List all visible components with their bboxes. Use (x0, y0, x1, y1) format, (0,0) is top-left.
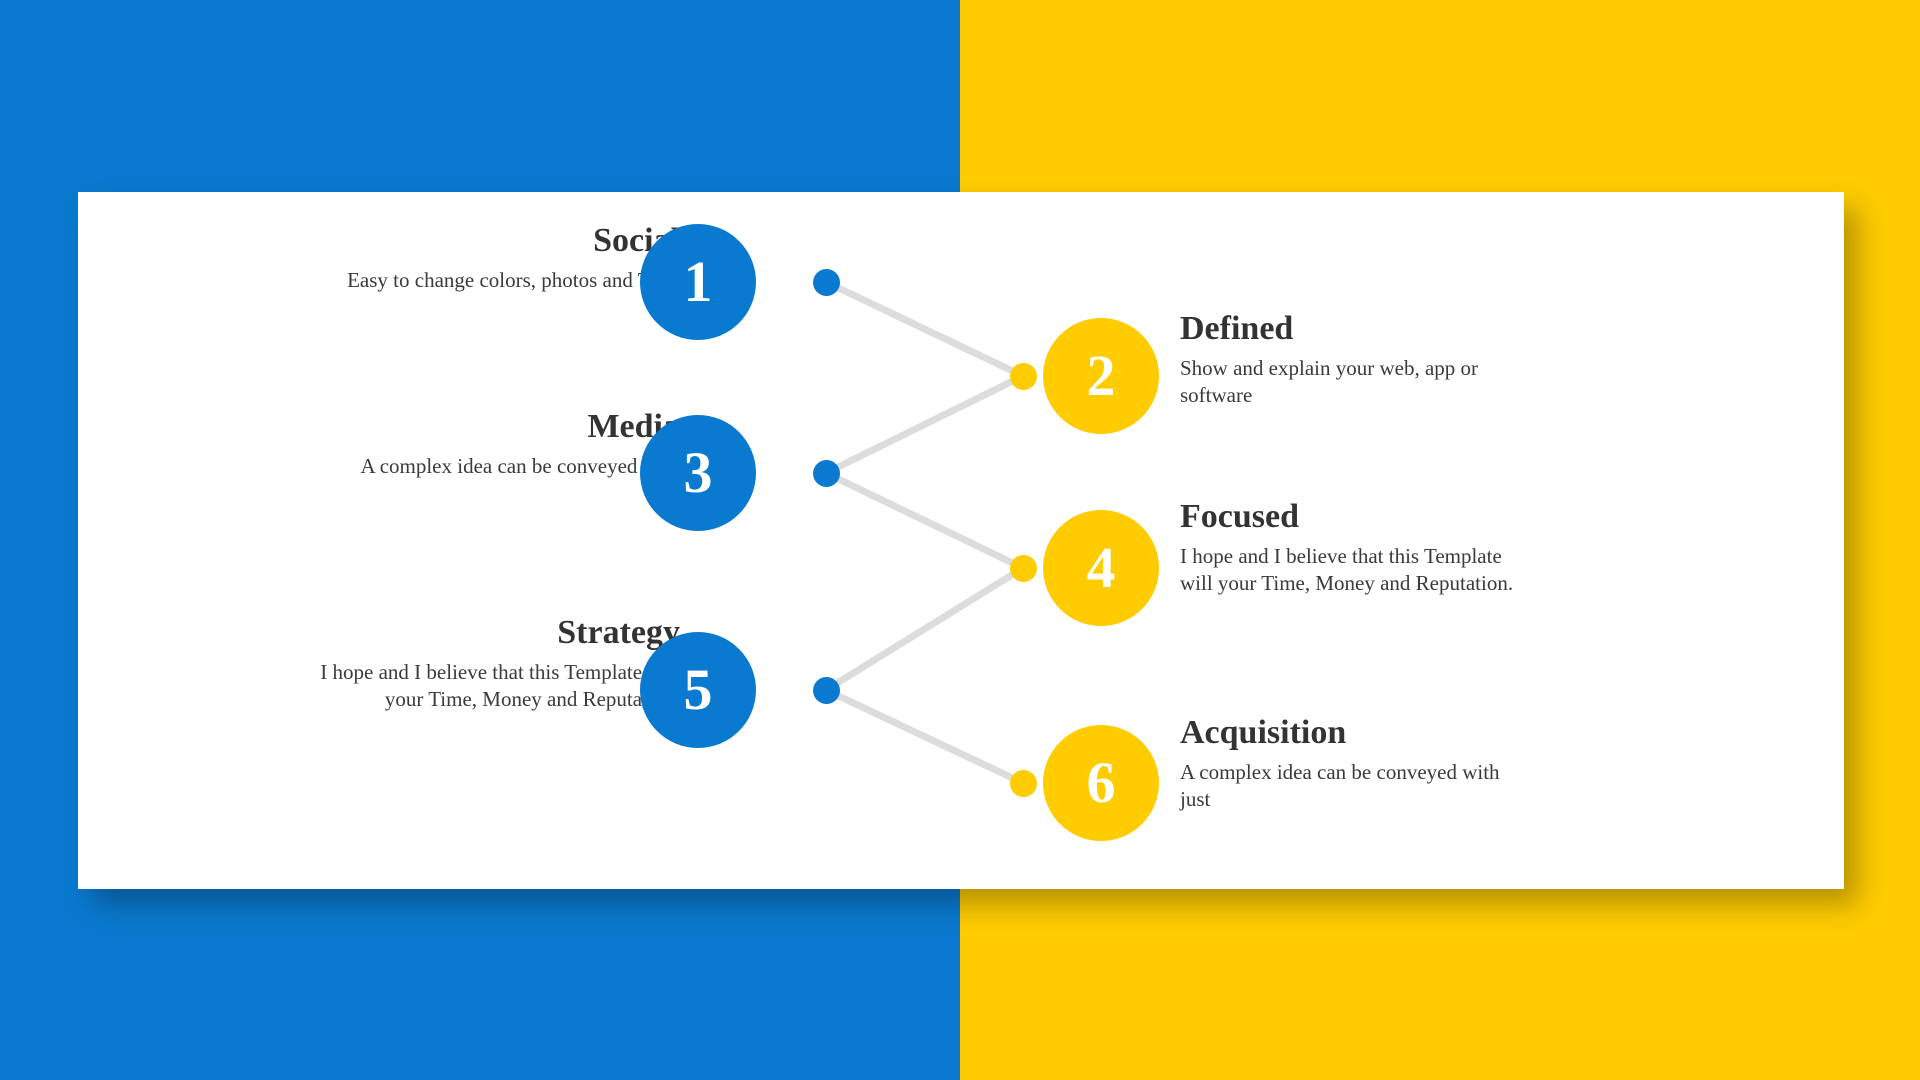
step-number-label-6: 6 (1087, 754, 1116, 812)
step-heading-5: Strategy (300, 614, 680, 651)
step-block-6: Acquisition A complex idea can be convey… (1180, 714, 1530, 813)
step-number-circle-6[interactable]: 6 (1043, 725, 1159, 841)
step-body-5: I hope and I believe that this Template … (300, 659, 680, 713)
step-connector-dot-1 (813, 269, 840, 296)
step-heading-1: Social (340, 222, 680, 259)
step-block-3: Media A complex idea can be conveyed wit… (340, 408, 680, 507)
step-body-3: A complex idea can be conveyed with just (340, 453, 680, 507)
step-block-5: Strategy I hope and I believe that this … (300, 614, 680, 713)
step-connector-dot-4 (1010, 555, 1037, 582)
step-block-2: Defined Show and explain your web, app o… (1180, 310, 1530, 409)
step-heading-4: Focused (1180, 498, 1530, 535)
step-number-circle-5[interactable]: 5 (640, 632, 756, 748)
step-number-label-5: 5 (684, 661, 713, 719)
step-number-label-1: 1 (684, 253, 713, 311)
step-number-label-2: 2 (1087, 347, 1116, 405)
content-card (78, 192, 1844, 889)
step-heading-2: Defined (1180, 310, 1530, 347)
step-heading-3: Media (340, 408, 680, 445)
step-block-1: Social Easy to change colors, photos and… (340, 222, 680, 294)
step-block-4: Focused I hope and I believe that this T… (1180, 498, 1530, 597)
step-number-circle-3[interactable]: 3 (640, 415, 756, 531)
step-number-circle-2[interactable]: 2 (1043, 318, 1159, 434)
step-connector-dot-2 (1010, 363, 1037, 390)
step-number-label-4: 4 (1087, 539, 1116, 597)
slide-canvas: Social Easy to change colors, photos and… (0, 0, 1920, 1080)
step-connector-dot-6 (1010, 770, 1037, 797)
step-body-4: I hope and I believe that this Template … (1180, 543, 1530, 597)
step-body-6: A complex idea can be conveyed with just (1180, 759, 1530, 813)
step-body-2: Show and explain your web, app or softwa… (1180, 355, 1530, 409)
step-number-circle-1[interactable]: 1 (640, 224, 756, 340)
step-body-1: Easy to change colors, photos and Text. (340, 267, 680, 294)
step-heading-6: Acquisition (1180, 714, 1530, 751)
step-connector-dot-3 (813, 460, 840, 487)
step-connector-dot-5 (813, 677, 840, 704)
step-number-circle-4[interactable]: 4 (1043, 510, 1159, 626)
step-number-label-3: 3 (684, 444, 713, 502)
